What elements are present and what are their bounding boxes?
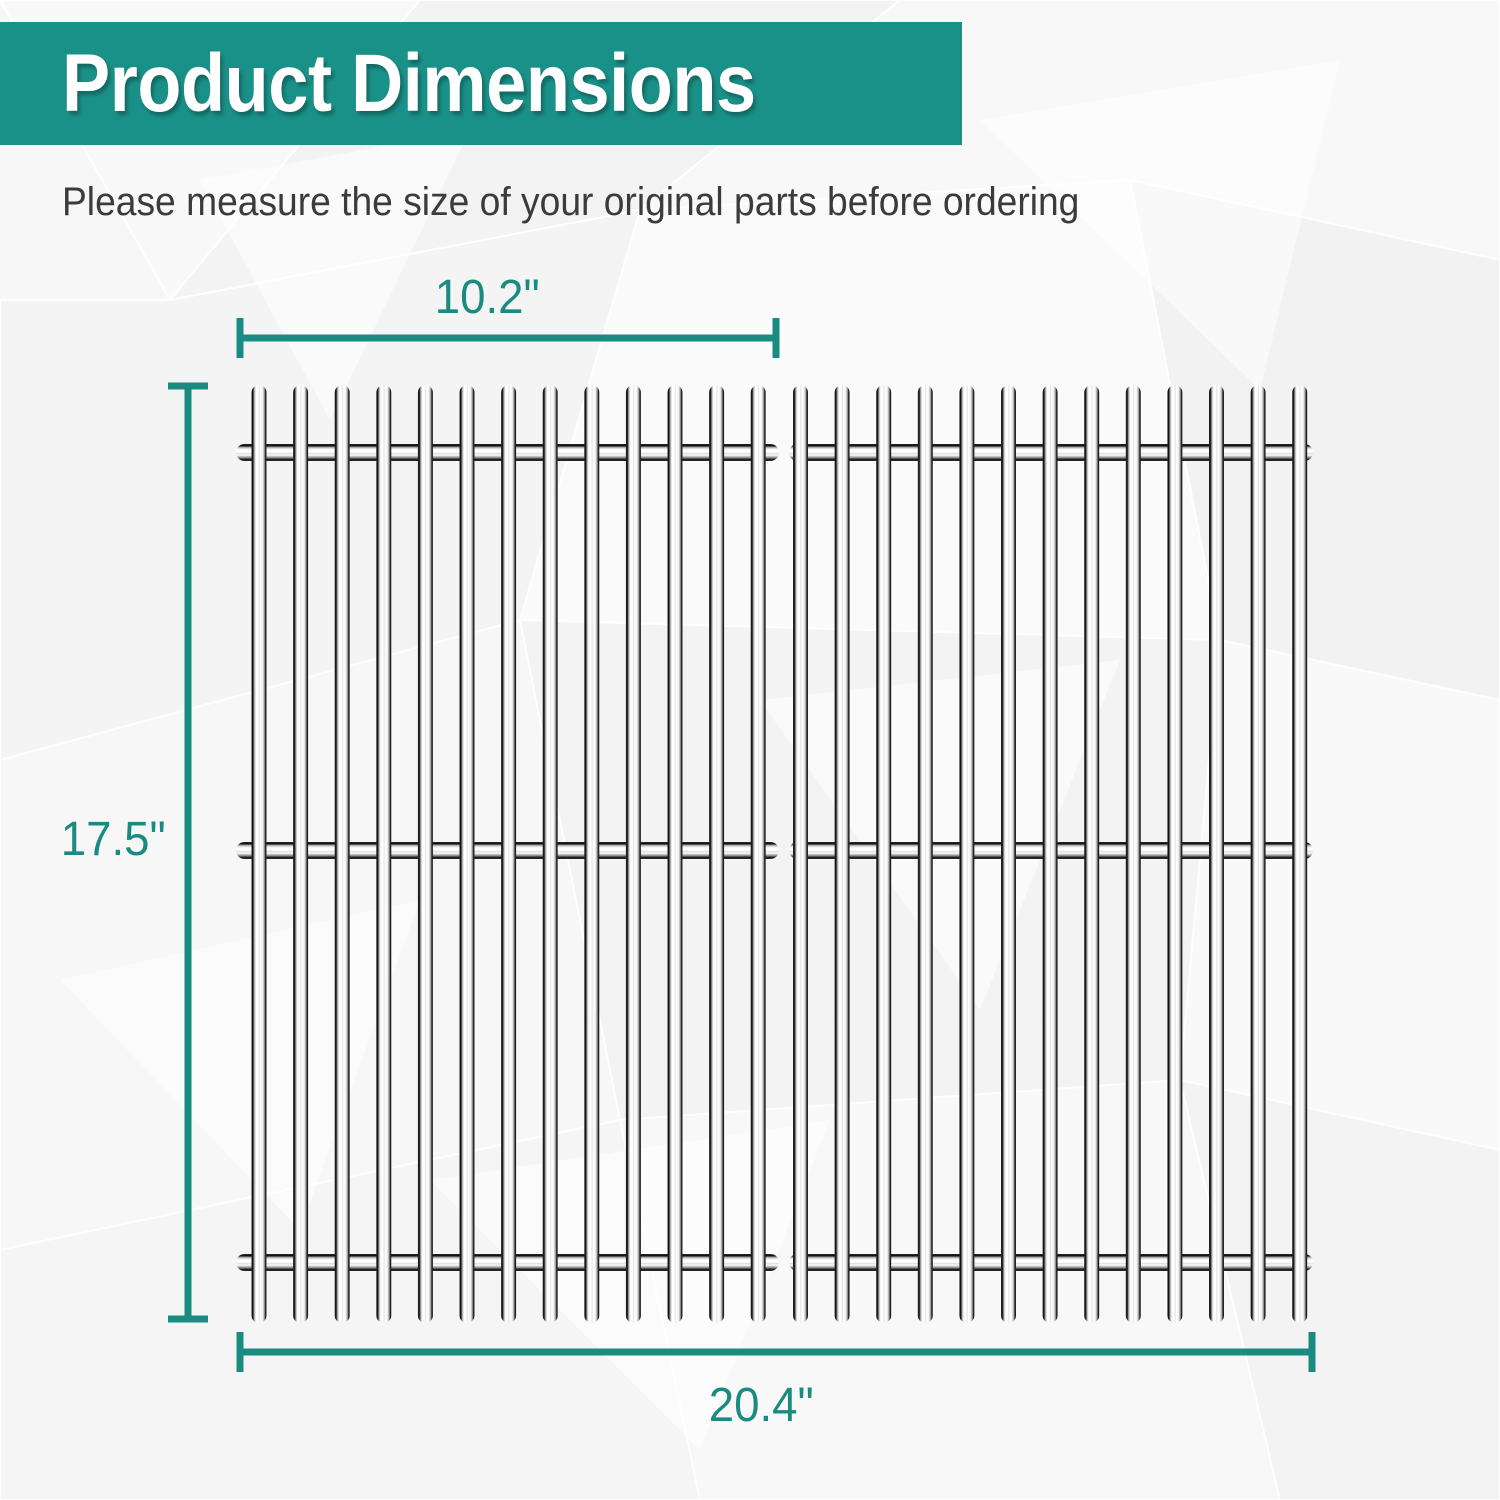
- dimension-label-width-bottom: 20.4": [709, 1378, 814, 1433]
- dimension-lines: [0, 0, 1500, 1500]
- dimension-label-width-top: 10.2": [435, 270, 540, 325]
- dimension-label-height-left: 17.5": [61, 812, 166, 867]
- infographic-canvas: Product Dimensions Please measure the si…: [0, 0, 1500, 1500]
